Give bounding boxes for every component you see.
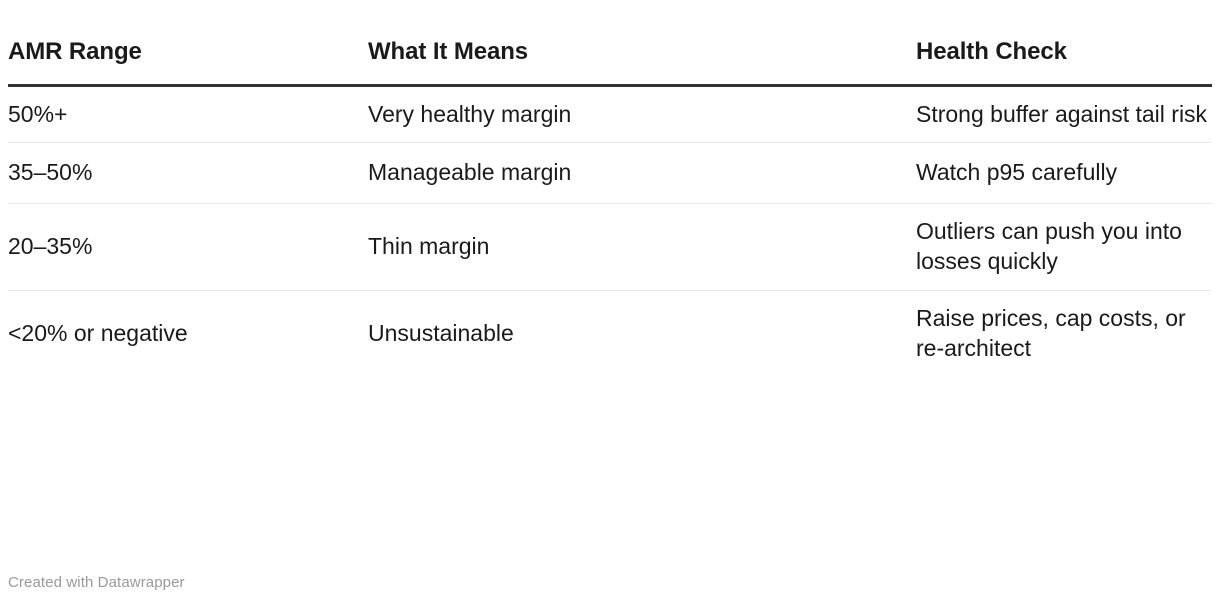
cell-health-check-text: Raise prices, cap costs, or re-architect [916, 304, 1212, 364]
cell-what-it-means: Manageable margin [368, 143, 916, 204]
cell-amr-range: 50%+ [8, 85, 368, 143]
column-header-health-check-label: Health Check [916, 38, 1212, 66]
cell-health-check-text: Outliers can push you into losses quickl… [916, 217, 1212, 277]
cell-amr-range: <20% or negative [8, 291, 368, 377]
table-row: 50%+ Very healthy margin Strong buffer a… [8, 85, 1212, 143]
table-header-row: AMR Range What It Means Health Check [8, 38, 1212, 85]
cell-amr-range-text: 20–35% [8, 232, 368, 262]
data-table: AMR Range What It Means Health Check 50%… [8, 38, 1212, 377]
cell-what-it-means-text: Unsustainable [368, 319, 916, 349]
cell-health-check: Outliers can push you into losses quickl… [916, 204, 1212, 291]
column-header-what-it-means[interactable]: What It Means [368, 38, 916, 85]
column-header-amr-range-label: AMR Range [8, 38, 368, 66]
cell-health-check: Strong buffer against tail risk [916, 85, 1212, 143]
datawrapper-table-chart: AMR Range What It Means Health Check 50%… [0, 38, 1220, 606]
cell-what-it-means-text: Very healthy margin [368, 100, 916, 130]
cell-amr-range-text: 50%+ [8, 100, 368, 130]
cell-what-it-means-text: Manageable margin [368, 158, 916, 188]
cell-amr-range: 20–35% [8, 204, 368, 291]
cell-amr-range-text: <20% or negative [8, 319, 368, 349]
cell-health-check-text: Strong buffer against tail risk [916, 100, 1212, 130]
column-header-amr-range[interactable]: AMR Range [8, 38, 368, 85]
cell-what-it-means: Unsustainable [368, 291, 916, 377]
cell-what-it-means-text: Thin margin [368, 232, 916, 262]
column-header-what-it-means-label: What It Means [368, 38, 916, 66]
table-row: 35–50% Manageable margin Watch p95 caref… [8, 143, 1212, 204]
table-body: 50%+ Very healthy margin Strong buffer a… [8, 85, 1212, 377]
table-row: <20% or negative Unsustainable Raise pri… [8, 291, 1212, 377]
cell-health-check: Raise prices, cap costs, or re-architect [916, 291, 1212, 377]
table-header: AMR Range What It Means Health Check [8, 38, 1212, 85]
cell-what-it-means: Thin margin [368, 204, 916, 291]
table-row: 20–35% Thin margin Outliers can push you… [8, 204, 1212, 291]
column-header-health-check[interactable]: Health Check [916, 38, 1212, 85]
cell-health-check-text: Watch p95 carefully [916, 158, 1212, 188]
datawrapper-credit[interactable]: Created with Datawrapper [8, 574, 185, 592]
cell-amr-range: 35–50% [8, 143, 368, 204]
cell-what-it-means: Very healthy margin [368, 85, 916, 143]
cell-amr-range-text: 35–50% [8, 158, 368, 188]
cell-health-check: Watch p95 carefully [916, 143, 1212, 204]
